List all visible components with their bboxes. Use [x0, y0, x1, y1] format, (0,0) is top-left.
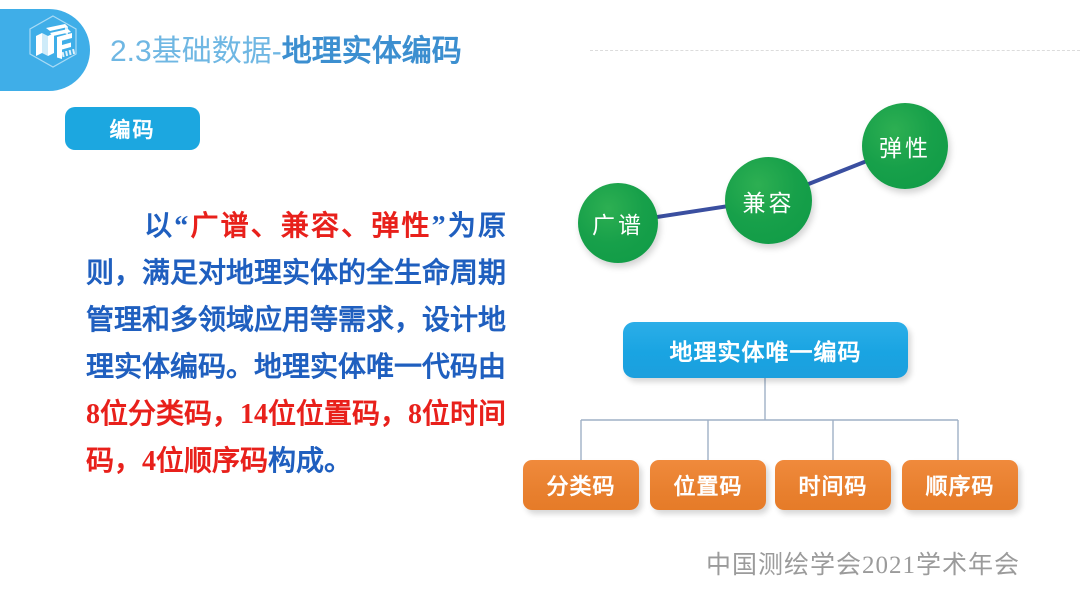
header-dashed-divider: [590, 50, 1080, 51]
org-child-label: 时间码: [798, 469, 867, 501]
chain-node-0: 广谱: [578, 183, 658, 263]
org-child-label: 顺序码: [925, 469, 994, 501]
slide-canvas: 2.3基础数据-地理实体编码 编码 以“广谱、兼容、弹性”为原则，满足对地理实体…: [0, 0, 1080, 607]
chain-node-1: 兼容: [725, 157, 812, 244]
page-title-prefix: 2.3基础数据-: [110, 35, 282, 68]
body-paragraph: 以“广谱、兼容、弹性”为原则，满足对地理实体的全生命周期管理和多领域应用等需求，…: [86, 203, 506, 485]
org-child-label: 位置码: [673, 469, 742, 501]
slide-footer: 中国测绘学会2021学术年会: [706, 545, 1020, 581]
org-child-node-3: 顺序码: [902, 460, 1018, 510]
chain-node-label: 弹性: [879, 129, 931, 163]
org-child-node-2: 时间码: [775, 460, 891, 510]
chain-node-2: 弹性: [862, 103, 948, 189]
org-child-node-0: 分类码: [523, 460, 639, 510]
encoding-structure-diagram: 地理实体唯一编码 分类码 位置码 时间码 顺序码: [500, 310, 1060, 525]
nf-cube-logo-icon: [24, 12, 82, 70]
org-root-node: 地理实体唯一编码: [623, 322, 908, 378]
org-child-node-1: 位置码: [650, 460, 766, 510]
page-title: 2.3基础数据-地理实体编码: [110, 32, 462, 72]
paragraph-run-0: 以“: [142, 211, 188, 242]
principles-chain-diagram: 广谱 兼容 弹性: [560, 90, 980, 270]
org-root-label: 地理实体唯一编码: [670, 333, 862, 367]
section-tag-badge: 编码: [65, 107, 200, 150]
paragraph-run-4: 构成。: [268, 446, 352, 477]
org-child-label: 分类码: [546, 469, 615, 501]
paragraph-run-1: 广谱、兼容、弹性: [188, 211, 431, 242]
chain-node-label: 广谱: [592, 206, 644, 240]
chain-node-label: 兼容: [743, 184, 795, 218]
page-title-emphasis: 地理实体编码: [282, 35, 462, 68]
